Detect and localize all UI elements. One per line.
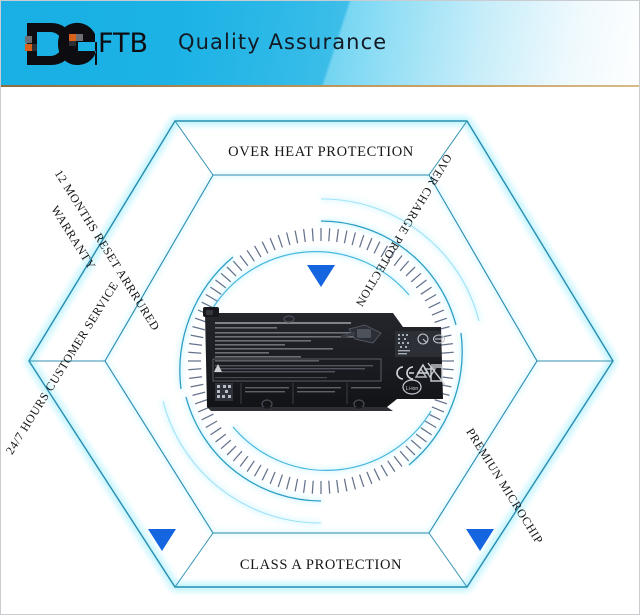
hexagon-stage: OVER HEAT PROTECTION CLASS A PROTECTION … <box>1 89 640 615</box>
logo-wordmark: FTB <box>98 30 148 59</box>
panel-label-over-heat-protection: OVER HEAT PROTECTION <box>228 144 414 161</box>
li-ion-badge-text: Li-ion <box>406 386 418 392</box>
laptop-battery-image: Li-ion <box>197 303 445 419</box>
header-underline <box>1 85 640 87</box>
dg-logo-icon <box>23 20 99 68</box>
marker-bottom-right <box>466 529 494 551</box>
marker-bottom-left <box>148 529 176 551</box>
quality-assurance-infographic: FTB Quality Assurance <box>0 0 640 615</box>
page-title: Quality Assurance <box>178 30 387 54</box>
header-banner: FTB Quality Assurance <box>1 1 640 87</box>
panel-label-class-a-protection: CLASS A PROTECTION <box>240 557 402 574</box>
marker-top <box>307 265 335 287</box>
brand-logo: FTB <box>23 19 148 69</box>
